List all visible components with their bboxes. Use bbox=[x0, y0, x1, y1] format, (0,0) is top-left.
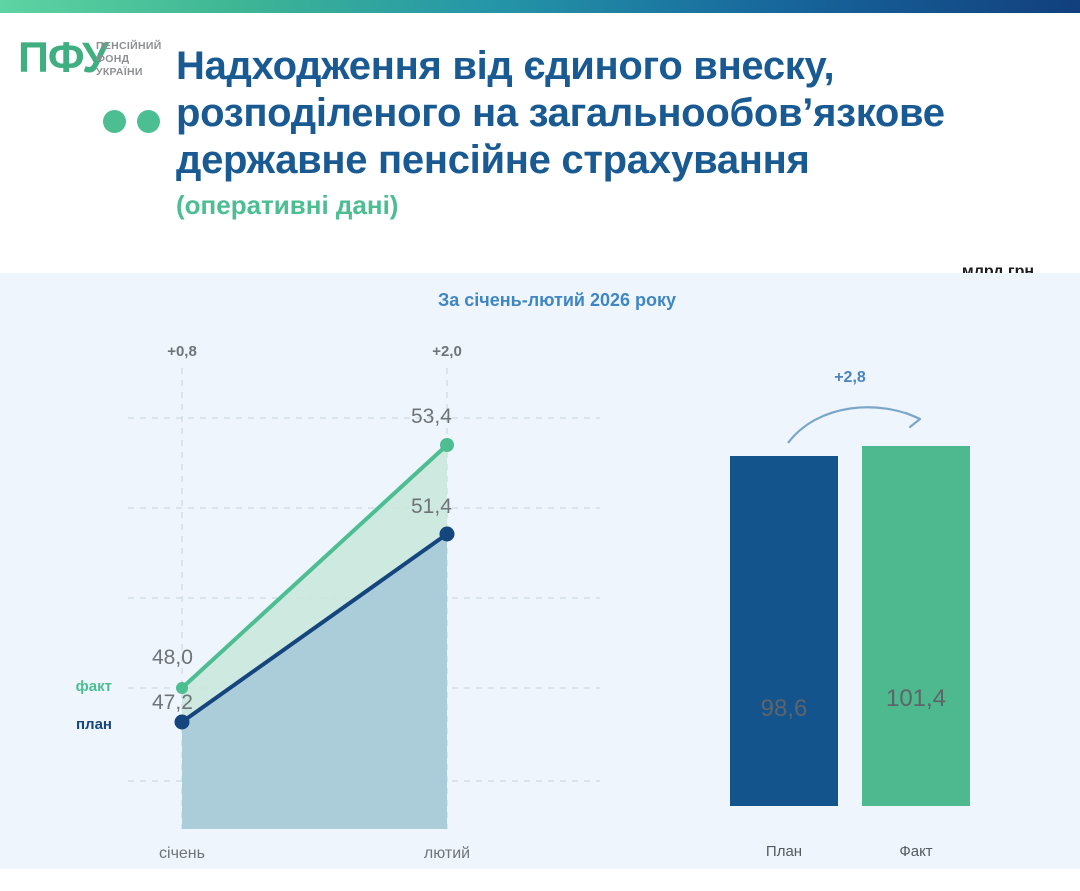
marker-fact-feb bbox=[440, 438, 454, 452]
bar-plan bbox=[730, 456, 838, 806]
series-label-plan: план bbox=[0, 716, 112, 733]
title-subtitle: (оперативні дані) bbox=[176, 190, 1056, 220]
logo-wordmark: ПФУ bbox=[18, 35, 108, 81]
title-line-1: Надходження від єдиного внеску, bbox=[176, 43, 1056, 90]
line-delta-jan: +0,8 bbox=[167, 343, 197, 360]
footer-strip bbox=[0, 869, 1080, 891]
logo-subtitle-line-2: ФОНД bbox=[96, 53, 162, 66]
xtick-feb: лютий bbox=[424, 845, 470, 863]
bar-value-fact: 101,4 bbox=[886, 685, 946, 713]
bar-chart: +2,8 98,6 План 101,4 Факт bbox=[600, 273, 1080, 869]
logo-dot-1 bbox=[103, 110, 126, 133]
page-header: ПФУ ПЕНСІЙНИЙ ФОНД УКРАЇНИ Надходження в… bbox=[0, 13, 1080, 273]
title-line-3: державне пенсійне страхування bbox=[176, 137, 1056, 184]
bar-category-fact: Факт bbox=[899, 843, 932, 860]
bar-delta-label: +2,8 bbox=[834, 369, 866, 387]
logo-subtitle-line-1: ПЕНСІЙНИЙ bbox=[96, 40, 162, 53]
value-label-plan-feb: 51,4 bbox=[411, 495, 452, 519]
bar-category-plan: План bbox=[766, 843, 802, 860]
logo-subtitle-line-3: УКРАЇНИ bbox=[96, 66, 162, 79]
bar-value-plan: 98,6 bbox=[761, 695, 808, 723]
logo-dot-2 bbox=[137, 110, 160, 133]
top-gradient-bar bbox=[0, 0, 1080, 13]
logo-dots-decoration bbox=[103, 110, 160, 133]
xtick-jan: січень bbox=[159, 845, 205, 863]
value-label-fact-jan: 48,0 bbox=[152, 646, 193, 670]
value-label-plan-jan: 47,2 bbox=[152, 691, 193, 715]
marker-plan-jan bbox=[175, 715, 190, 730]
growth-arrow-icon bbox=[780, 391, 940, 451]
line-chart-svg bbox=[0, 273, 600, 869]
bar-fact bbox=[862, 446, 970, 806]
line-chart: +0,8 +2,0 53,4 51,4 48,0 47,2 факт план … bbox=[0, 273, 600, 869]
value-label-fact-feb: 53,4 bbox=[411, 405, 452, 429]
page-title: Надходження від єдиного внеску, розподіл… bbox=[176, 43, 1056, 220]
pfu-logo: ПФУ ПЕНСІЙНИЙ ФОНД УКРАЇНИ bbox=[18, 35, 168, 145]
chart-panel: За січень-лютий 2026 року bbox=[0, 273, 1080, 869]
marker-plan-feb bbox=[440, 527, 455, 542]
title-line-2: розподіленого на загальнообов’язкове bbox=[176, 90, 1056, 137]
title-main: Надходження від єдиного внеску, розподіл… bbox=[176, 43, 1056, 184]
logo-subtitle: ПЕНСІЙНИЙ ФОНД УКРАЇНИ bbox=[96, 40, 162, 79]
series-label-fact: факт bbox=[0, 678, 112, 695]
line-delta-feb: +2,0 bbox=[432, 343, 462, 360]
